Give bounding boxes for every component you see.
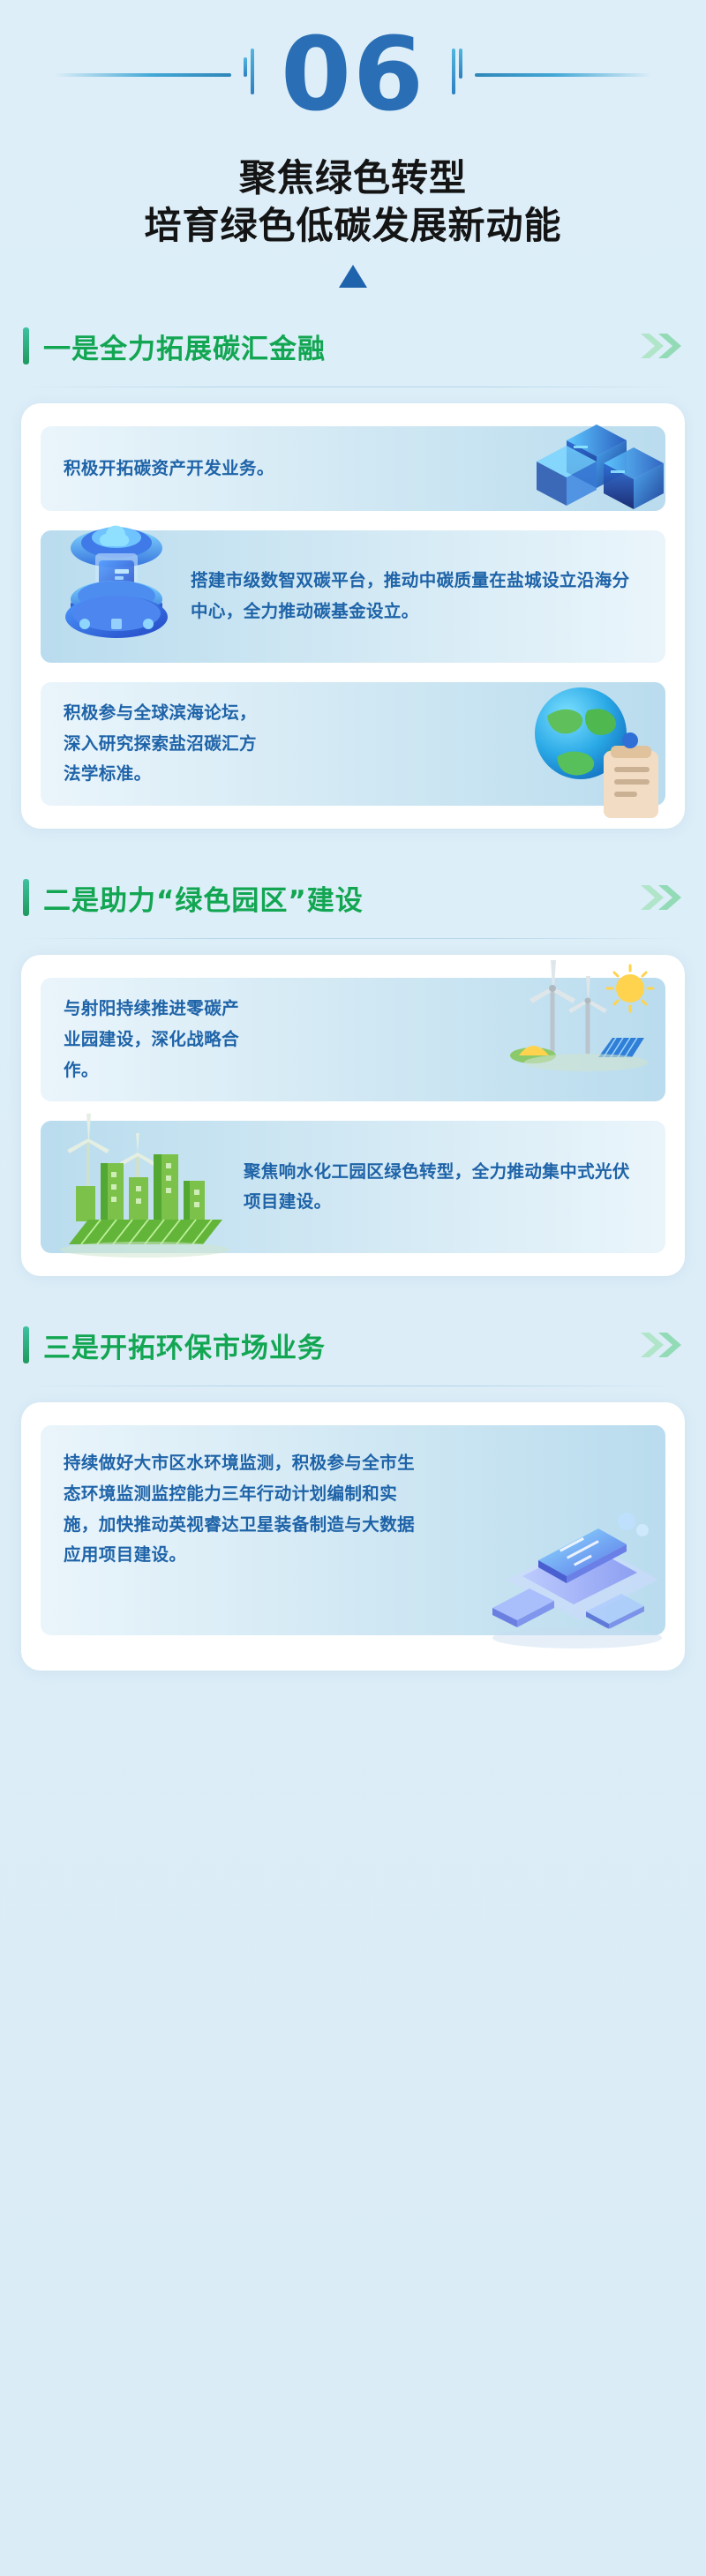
card-text: 搭建市级数智双碳平台，推动中碳质量在盐城设立沿海分中心，全力推动碳基金设立。 — [41, 550, 665, 642]
chevron-svg — [637, 882, 683, 912]
infographic-page: 06 聚焦绿色转型 培育绿色低碳发展新动能 一是全力拓展碳汇金融 — [0, 0, 706, 2576]
chevron-svg — [637, 1330, 683, 1360]
double-chevron-right-icon — [637, 1330, 683, 1360]
section-spacer — [0, 829, 706, 852]
section-divider — [23, 1386, 683, 1386]
tick-mark — [244, 57, 247, 77]
triangle-up-icon — [339, 265, 367, 288]
header-rule-right — [475, 73, 651, 77]
section-accent-bar — [23, 327, 29, 364]
card-text: 聚焦响水化工园区绿色转型，全力推动集中式光伏项目建设。 — [41, 1141, 665, 1234]
header-number-row: 06 — [0, 9, 706, 141]
section-number: 06 — [281, 25, 425, 126]
page-title: 聚焦绿色转型 培育绿色低碳发展新动能 — [0, 154, 706, 250]
title-line-2: 培育绿色低碳发展新动能 — [0, 202, 706, 250]
section-title-1: 一是全力拓展碳汇金融 — [43, 327, 326, 366]
tick-mark — [459, 49, 462, 79]
section-heading-2: 二是助力“绿色园区”建设 — [0, 869, 706, 926]
card-text: 积极参与全球滨海论坛，深入研究探索盐沼碳汇方法学标准。 — [41, 682, 420, 806]
content-card: 与射阳持续推进零碳产业园建设，深化战略合作。 — [41, 978, 665, 1101]
content-card: 积极开拓碳资产开发业务。 — [41, 426, 665, 511]
content-card: 搭建市级数智双碳平台，推动中碳质量在盐城设立沿海分中心，全力推动碳基金设立。 — [41, 530, 665, 663]
section-accent-bar — [23, 879, 29, 916]
page-header: 06 聚焦绿色转型 培育绿色低碳发展新动能 — [0, 0, 706, 300]
section-title-2: 二是助力“绿色园区”建设 — [43, 878, 364, 918]
card-text: 与射阳持续推进零碳产业园建设，深化战略合作。 — [41, 978, 402, 1101]
header-rule-left — [55, 73, 231, 77]
section-panel-1: 积极开拓碳资产开发业务。 — [21, 403, 685, 829]
section-divider — [23, 938, 683, 939]
section-spacer — [0, 1276, 706, 1299]
section-heading-1: 一是全力拓展碳汇金融 — [0, 318, 706, 374]
section-title-3: 三是开拓环保市场业务 — [43, 1326, 326, 1365]
header-ticks-left — [244, 49, 254, 101]
tick-mark — [251, 49, 254, 94]
header-ticks-right — [452, 49, 462, 101]
section-heading-3: 三是开拓环保市场业务 — [0, 1317, 706, 1373]
triangle-divider — [0, 265, 706, 288]
chevron-svg — [637, 331, 683, 361]
double-chevron-right-icon — [637, 882, 683, 912]
title-line-1: 聚焦绿色转型 — [0, 154, 706, 202]
content-card: 聚焦响水化工园区绿色转型，全力推动集中式光伏项目建设。 — [41, 1121, 665, 1253]
content-card: 持续做好大市区水环境监测，积极参与全市生态环境监测监控能力三年行动计划编制和实施… — [41, 1425, 665, 1635]
tick-mark — [452, 49, 455, 94]
content-card: 积极参与全球滨海论坛，深入研究探索盐沼碳汇方法学标准。 — [41, 682, 665, 806]
double-chevron-right-icon — [637, 331, 683, 361]
section-panel-3: 持续做好大市区水环境监测，积极参与全市生态环境监测监控能力三年行动计划编制和实施… — [21, 1402, 685, 1671]
section-accent-bar — [23, 1326, 29, 1363]
card-text: 持续做好大市区水环境监测，积极参与全市生态环境监测监控能力三年行动计划编制和实施… — [41, 1425, 447, 1587]
section-panel-2: 与射阳持续推进零碳产业园建设，深化战略合作。 — [21, 955, 685, 1276]
section-divider — [23, 387, 683, 387]
card-text: 积极开拓碳资产开发业务。 — [41, 438, 433, 500]
